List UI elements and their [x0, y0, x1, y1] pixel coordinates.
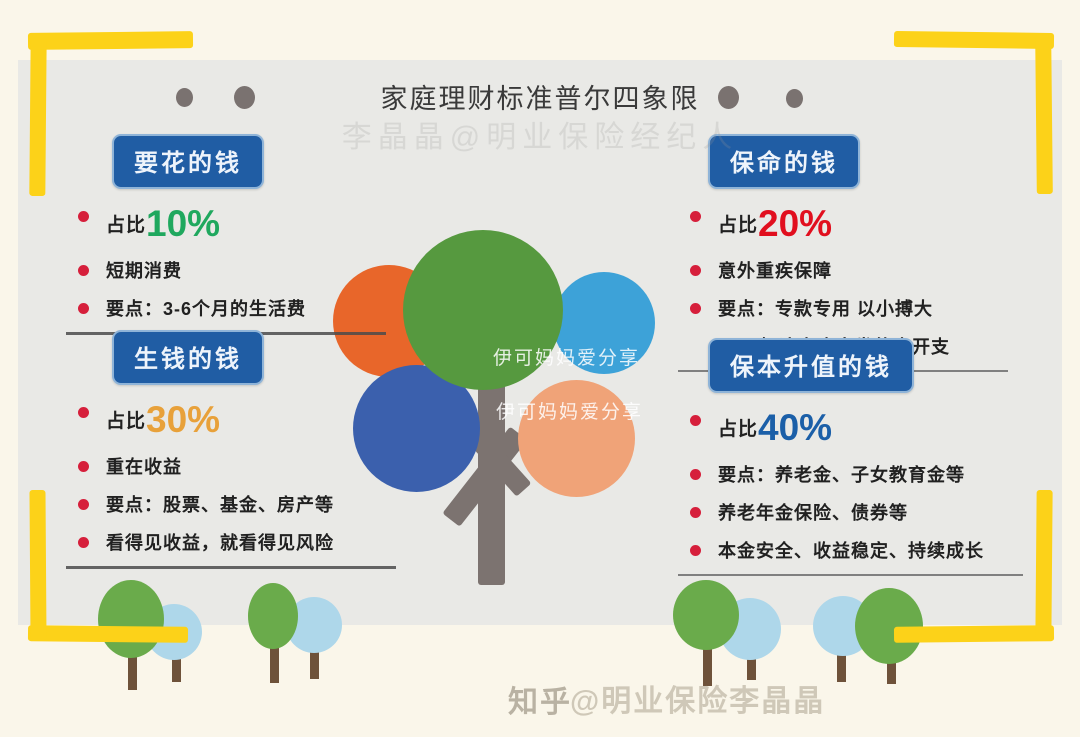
- quadrant-protect-ratio-value: 20%: [758, 203, 832, 244]
- quadrant-spend-line-0: 短期消费: [66, 257, 386, 283]
- quadrant-preserve-line-0: 要点：养老金、子女教育金等: [678, 461, 1023, 487]
- quadrant-protect-line-1: 要点：专款专用 以小搏大: [678, 295, 1008, 321]
- corner-bracket-bottom-left: [28, 492, 188, 642]
- quadrant-spend-ratio: 占比10%: [66, 203, 386, 245]
- quadrant-spend-ratio-label: 占比: [106, 215, 146, 236]
- quadrant-preserve-ratio: 占比40%: [678, 407, 1023, 449]
- quadrant-grow-badge-row: 生钱的钱: [66, 330, 396, 385]
- quadrant-grow-ratio-label: 占比: [106, 411, 146, 432]
- footer-handle: @明业保险李晶晶: [570, 676, 825, 720]
- pin-dot-2: [234, 86, 255, 109]
- footer-stack: 知乎 @明业保险李晶晶: [508, 677, 572, 721]
- quadrant-protect-ratio-label: 占比: [718, 215, 758, 236]
- pin-dot-4: [786, 89, 803, 108]
- quadrant-grow-badge[interactable]: 生钱的钱: [112, 330, 264, 385]
- bush-2-crown-green: [248, 583, 298, 649]
- quadrant-preserve-ratio-value: 40%: [758, 407, 832, 448]
- quadrant-spend-line-1: 要点：3-6个月的生活费: [66, 295, 386, 321]
- quadrant-preserve-badge[interactable]: 保本升值的钱: [708, 338, 914, 393]
- quadrant-protect-ratio: 占比20%: [678, 203, 1008, 245]
- quadrant-grow-line-0: 重在收益: [66, 453, 396, 479]
- quadrant-protect-line-0: 意外重疾保障: [678, 257, 1008, 283]
- quadrant-grow-ratio: 占比30%: [66, 399, 396, 441]
- pin-dot-3: [718, 86, 739, 109]
- tree-watermark-2: 伊可妈妈爱分享: [496, 397, 643, 424]
- quadrant-preserve-ratio-label: 占比: [718, 419, 758, 440]
- corner-bracket-bottom-right: [894, 492, 1054, 642]
- bush-2: [248, 583, 348, 675]
- quadrant-spend-ratio-value: 10%: [146, 203, 220, 244]
- tree-watermark-1: 伊可妈妈爱分享: [493, 343, 640, 370]
- corner-bracket-top-left: [28, 32, 193, 192]
- quadrant-preserve-badge-row: 保本升值的钱: [678, 338, 1023, 393]
- quadrant-grow-ratio-value: 30%: [146, 399, 220, 440]
- footer-site: 知乎: [508, 686, 572, 719]
- corner-bracket-top-right: [894, 32, 1054, 192]
- bush-3: [673, 580, 783, 675]
- bush-3-crown-green: [673, 580, 739, 650]
- footer-watermark: 知乎 @明业保险李晶晶: [0, 677, 1080, 721]
